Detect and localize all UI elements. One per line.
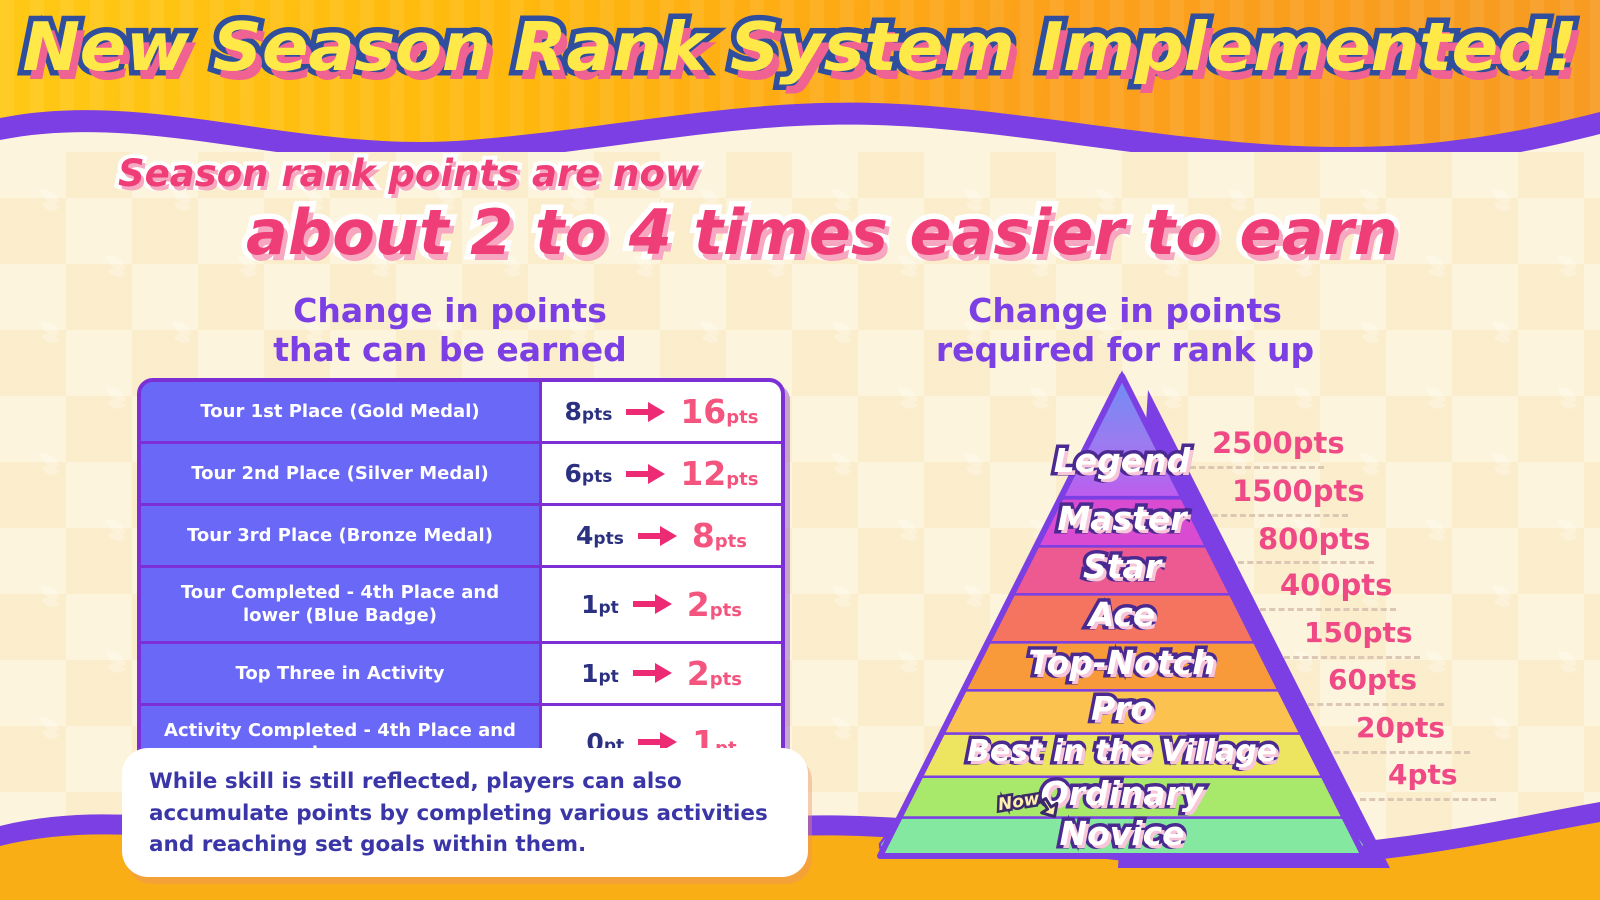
pyramid-tier-label: Ace	[1089, 595, 1155, 634]
rank-up-points-label: 4pts	[1388, 758, 1458, 791]
old-points-value: 6pts	[565, 459, 613, 488]
table-row-points: 1pt2pts	[539, 568, 781, 641]
table-row-label: Tour Completed - 4th Place and lower (Bl…	[141, 568, 539, 641]
infographic-root: New Season Rank System Implemented! Seas…	[0, 0, 1600, 900]
rank-up-points-label: 1500pts	[1232, 474, 1365, 508]
rank-up-points-label: 2500pts	[1212, 426, 1345, 460]
old-points-value: 1pt	[581, 659, 619, 688]
callout-dashed-line	[1284, 656, 1420, 659]
old-points-value: 1pt	[581, 590, 619, 619]
callout-dashed-line	[1308, 703, 1444, 706]
pyramid-tier-label: Ordinary	[1041, 774, 1204, 813]
table-row-points: 6pts12pts	[539, 444, 781, 503]
subheadline-line-2: about 2 to 4 times easier to earn	[246, 196, 1398, 269]
arrow-right-icon	[626, 463, 666, 485]
arrow-right-icon	[633, 662, 673, 684]
arrow-right-icon	[633, 593, 673, 615]
pyramid-tier-label: Pro	[1091, 689, 1153, 728]
table-row-points: 8pts16pts	[539, 382, 781, 441]
header-banner: New Season Rank System Implemented!	[0, 0, 1600, 152]
callout-dashed-line	[1334, 751, 1470, 754]
left-section-heading: Change in points that can be earned	[205, 292, 695, 369]
arrow-right-icon	[626, 401, 666, 423]
rank-up-points-label: 400pts	[1280, 568, 1392, 602]
page-title: New Season Rank System Implemented!	[0, 8, 1600, 86]
note-callout-box: While skill is still reflected, players …	[122, 748, 808, 877]
table-row-label: Top Three in Activity	[141, 644, 539, 703]
pyramid-tier-label: Best in the Village	[967, 734, 1277, 769]
callout-dashed-line	[1212, 514, 1348, 517]
arrow-down-right-icon	[1038, 794, 1064, 820]
new-points-value: 12pts	[680, 454, 758, 493]
rank-up-points-label: 60pts	[1328, 663, 1417, 696]
callout-dashed-line	[1238, 561, 1374, 564]
table-row: Tour 1st Place (Gold Medal)8pts16pts	[141, 382, 781, 444]
old-points-value: 4pts	[576, 521, 624, 550]
points-earned-table: Tour 1st Place (Gold Medal)8pts16ptsTour…	[137, 378, 785, 783]
pyramid-tier-label: Novice	[1059, 814, 1184, 853]
pyramid-tier-label: Star	[1083, 547, 1161, 586]
callout-dashed-line	[1190, 466, 1324, 469]
right-section-heading: Change in points required for rank up	[905, 292, 1345, 369]
new-points-value: 2pts	[687, 654, 742, 693]
pyramid-tier-label: Legend	[1054, 441, 1191, 480]
callout-dashed-line	[1260, 608, 1396, 611]
table-row: Tour 3rd Place (Bronze Medal)4pts8pts	[141, 506, 781, 568]
new-points-value: 16pts	[680, 392, 758, 431]
old-points-value: 8pts	[565, 397, 613, 426]
pyramid-tier-label: Top-Notch	[1028, 643, 1215, 682]
callout-dashed-line	[1360, 798, 1496, 801]
new-points-value: 2pts	[687, 585, 742, 624]
table-row-points: 1pt2pts	[539, 644, 781, 703]
pyramid-tier-label: Master	[1057, 499, 1186, 538]
subheadline-line-1: Season rank points are now	[118, 152, 699, 195]
table-row-label: Tour 1st Place (Gold Medal)	[141, 382, 539, 441]
rank-up-points-label: 20pts	[1356, 711, 1445, 744]
rank-up-points-label: 800pts	[1258, 522, 1370, 556]
rank-pyramid: LegendMasterStarAceTop-NotchProBest in t…	[860, 368, 1420, 868]
note-text: While skill is still reflected, players …	[149, 766, 782, 861]
table-row-points: 4pts8pts	[539, 506, 781, 565]
table-row-label: Tour 3rd Place (Bronze Medal)	[141, 506, 539, 565]
table-row: Top Three in Activity1pt2pts	[141, 644, 781, 706]
header-wave-divider	[0, 96, 1600, 152]
table-row: Tour 2nd Place (Silver Medal)6pts12pts	[141, 444, 781, 506]
arrow-right-icon	[638, 525, 678, 547]
rank-up-points-label: 150pts	[1304, 616, 1413, 649]
new-points-value: 8pts	[692, 516, 747, 555]
table-row-label: Tour 2nd Place (Silver Medal)	[141, 444, 539, 503]
table-row: Tour Completed - 4th Place and lower (Bl…	[141, 568, 781, 644]
